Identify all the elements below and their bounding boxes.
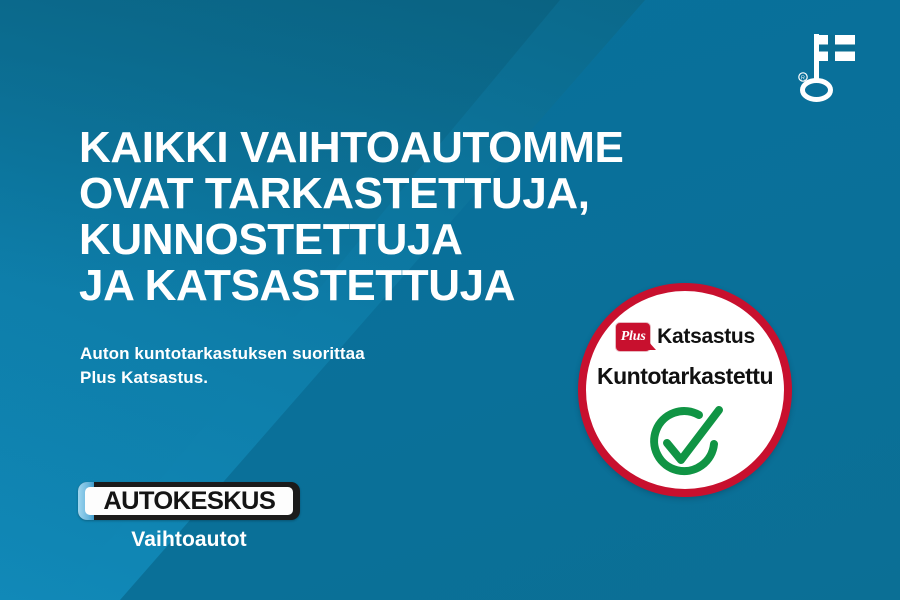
plus-logo-tail bbox=[647, 340, 656, 350]
headline: KAIKKI VAIHTOAUTOMME OVAT TARKASTETTUJA,… bbox=[79, 125, 699, 309]
autokeskus-logo[interactable]: AUTOKESKUS Vaihtoautot bbox=[78, 482, 300, 552]
plate-inner-panel: AUTOKESKUS bbox=[85, 487, 293, 515]
logo-tagline: Vaihtoautot bbox=[78, 528, 300, 552]
badge-brand-line: Plus Katsastus bbox=[586, 322, 784, 352]
license-plate-badge: AUTOKESKUS bbox=[78, 482, 300, 520]
brand-wordmark: AUTOKESKUS bbox=[103, 489, 275, 514]
subtitle: Auton kuntotarkastuksen suorittaa Plus K… bbox=[80, 342, 540, 390]
badge-brand-name: Katsastus bbox=[657, 325, 755, 349]
plus-logo-mark: Plus bbox=[615, 322, 651, 352]
autokeskus-vaihtoautot-banner: R KAIKKI VAIHTOAUTOMME OVAT TARKASTETTUJ… bbox=[0, 0, 900, 600]
plus-katsastus-badge: Plus Katsastus Kuntotarkastettu bbox=[578, 283, 792, 497]
plus-logo-text: Plus bbox=[621, 330, 646, 344]
badge-title: Kuntotarkastettu bbox=[586, 363, 784, 390]
avainlippu-key-flag-icon: R bbox=[781, 26, 859, 104]
green-check-icon bbox=[639, 399, 731, 481]
svg-text:R: R bbox=[801, 76, 805, 82]
